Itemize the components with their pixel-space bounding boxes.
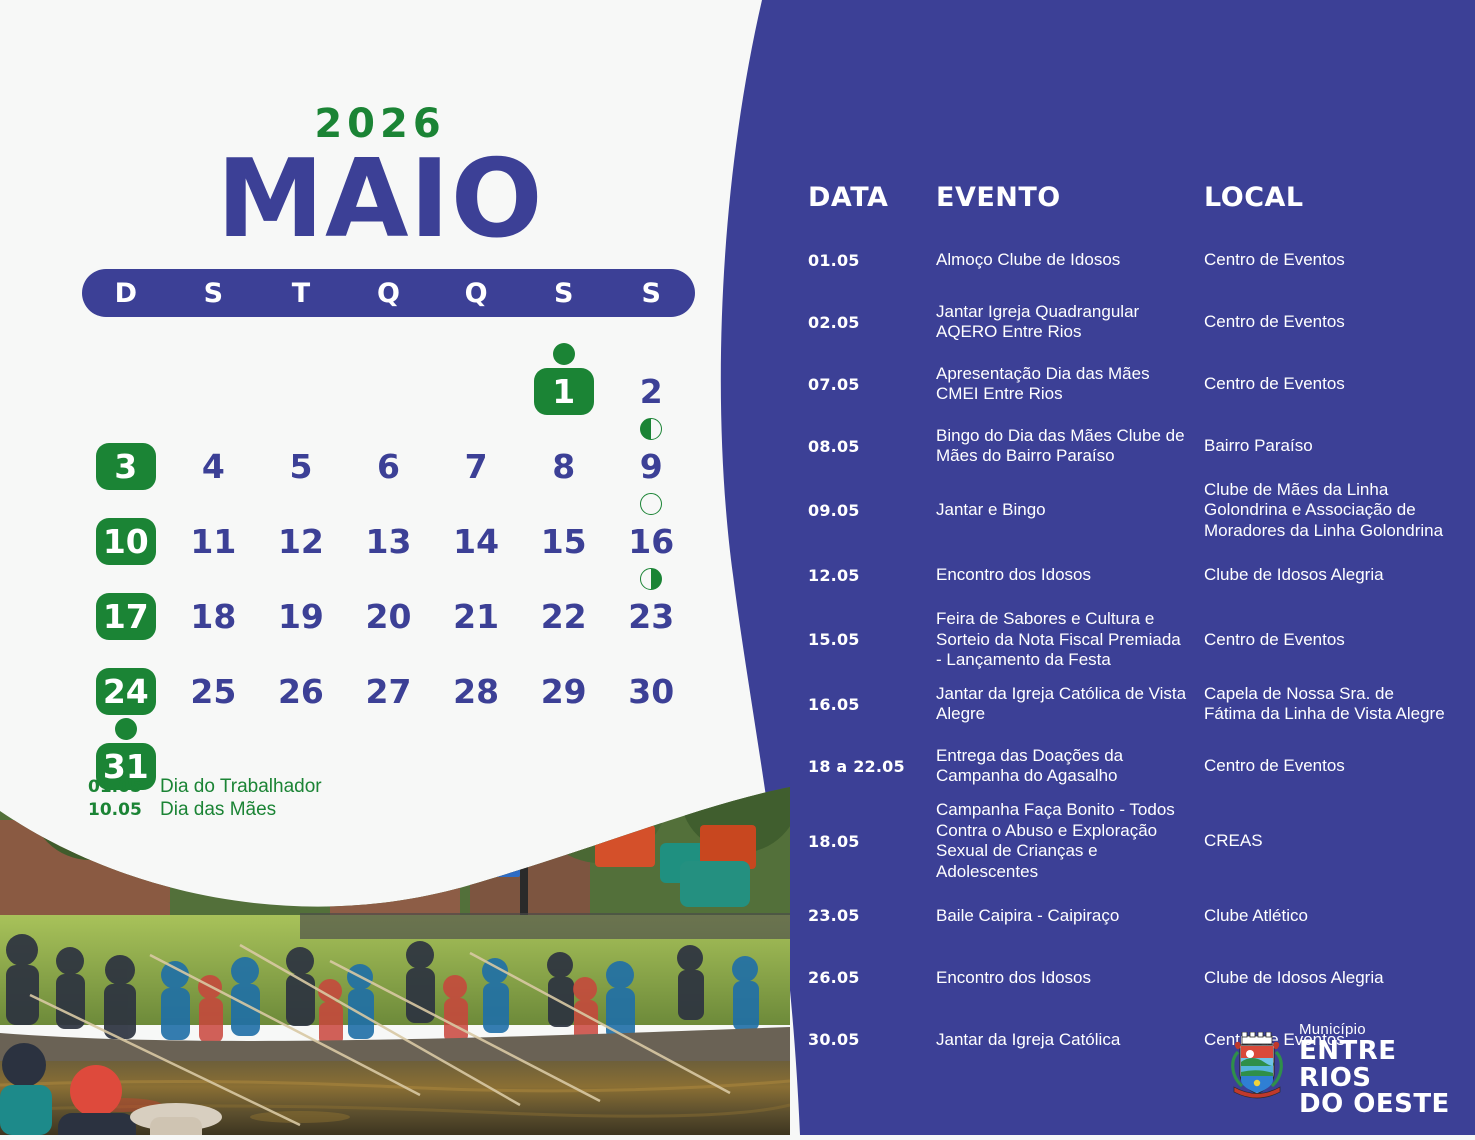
day-number: 27 (359, 668, 419, 715)
event-date: 01.05 (808, 251, 936, 270)
logo-line-1: ENTRE RIOS (1299, 1038, 1475, 1091)
calendar-day-17[interactable]: 17 (82, 565, 170, 640)
moon-phase-full-icon (115, 718, 137, 740)
event-date: 18 a 22.05 (808, 757, 936, 776)
legend-date: 10.05 (88, 800, 160, 820)
calendar-column: 2026 MAIO DSTQQSS 1234567891011121314151… (0, 0, 760, 1135)
calendar-day-empty (432, 715, 520, 790)
calendar-day-14[interactable]: 14 (432, 490, 520, 565)
calendar-day-empty (520, 715, 608, 790)
calendar-day-3[interactable]: 3 (82, 415, 170, 490)
calendar-day-1[interactable]: 1 (520, 340, 608, 415)
table-row[interactable]: 08.05Bingo do Dia das Mães Clube de Mães… (808, 415, 1448, 477)
calendar-day-empty (257, 340, 345, 415)
column-header-date: DATA (808, 182, 936, 213)
event-date: 15.05 (808, 630, 936, 649)
calendar-day-20[interactable]: 20 (345, 565, 433, 640)
event-name: Encontro dos Idosos (936, 968, 1204, 988)
event-date: 12.05 (808, 566, 936, 585)
calendar-day-21[interactable]: 21 (432, 565, 520, 640)
calendar-day-8[interactable]: 8 (520, 415, 608, 490)
calendar-day-11[interactable]: 11 (170, 490, 258, 565)
calendar-week: 3456789 (82, 415, 695, 490)
calendar-day-4[interactable]: 4 (170, 415, 258, 490)
event-name: Encontro dos Idosos (936, 565, 1204, 585)
calendar-day-9[interactable]: 9 (607, 415, 695, 490)
day-number: 28 (446, 668, 506, 715)
day-number: 14 (446, 518, 506, 565)
day-number: 16 (621, 518, 681, 565)
event-date: 02.05 (808, 313, 936, 332)
day-number: 11 (183, 518, 243, 565)
calendar-day-28[interactable]: 28 (432, 640, 520, 715)
calendar-day-13[interactable]: 13 (345, 490, 433, 565)
day-number: 23 (621, 593, 681, 640)
calendar-day-25[interactable]: 25 (170, 640, 258, 715)
events-table-body: 01.05Almoço Clube de IdososCentro de Eve… (808, 229, 1448, 1071)
event-name: Baile Caipira - Caipiraço (936, 906, 1204, 926)
column-header-event: EVENTO (936, 182, 1204, 213)
event-name: Jantar da Igreja Católica (936, 1030, 1204, 1050)
logo-text-block: Município ENTRE RIOS DO OESTE (1299, 1022, 1475, 1118)
day-number: 6 (359, 443, 419, 490)
moon-phase-new-icon (640, 493, 662, 515)
event-name: Jantar Igreja Quadrangular AQERO Entre R… (936, 302, 1204, 343)
day-number: 15 (534, 518, 594, 565)
day-number: 30 (621, 668, 681, 715)
table-row[interactable]: 23.05Baile Caipira - CaipiraçoClube Atlé… (808, 885, 1448, 947)
calendar-day-2[interactable]: 2 (607, 340, 695, 415)
day-number: 26 (271, 668, 331, 715)
coat-of-arms-icon (1226, 1032, 1288, 1107)
column-header-local: LOCAL (1204, 182, 1448, 213)
calendar-month: MAIO (0, 146, 760, 254)
event-location: Centro de Eventos (1204, 250, 1448, 270)
day-number: 4 (183, 443, 243, 490)
calendar-week: 17181920212223 (82, 565, 695, 640)
weekday-label-4: Q (432, 278, 520, 309)
day-number: 7 (446, 443, 506, 490)
table-row[interactable]: 02.05Jantar Igreja Quadrangular AQERO En… (808, 291, 1448, 353)
weekday-label-3: Q (345, 278, 433, 309)
table-row[interactable]: 15.05Feira de Sabores e Cultura e Sortei… (808, 606, 1448, 673)
calendar-day-6[interactable]: 6 (345, 415, 433, 490)
legend-date: 01.05 (88, 777, 160, 797)
event-location: Clube de Idosos Alegria (1204, 968, 1448, 988)
event-name: Bingo do Dia das Mães Clube de Mães do B… (936, 426, 1204, 467)
day-number: 1 (534, 368, 594, 415)
event-date: 23.05 (808, 906, 936, 925)
calendar-day-29[interactable]: 29 (520, 640, 608, 715)
event-location: Clube de Idosos Alegria (1204, 565, 1448, 585)
table-row[interactable]: 07.05Apresentação Dia das Mães CMEI Entr… (808, 353, 1448, 415)
event-name: Campanha Faça Bonito - Todos Contra o Ab… (936, 800, 1204, 882)
day-number: 24 (96, 668, 156, 715)
day-number: 29 (534, 668, 594, 715)
calendar-day-27[interactable]: 27 (345, 640, 433, 715)
calendar-day-18[interactable]: 18 (170, 565, 258, 640)
event-date: 07.05 (808, 375, 936, 394)
weekday-label-0: D (82, 278, 170, 309)
day-number: 10 (96, 518, 156, 565)
event-location: Centro de Eventos (1204, 374, 1448, 394)
calendar-day-16[interactable]: 16 (607, 490, 695, 565)
day-number: 21 (446, 593, 506, 640)
event-date: 26.05 (808, 968, 936, 987)
moon-phase-full-icon (553, 343, 575, 365)
event-date: 16.05 (808, 695, 936, 714)
event-date: 08.05 (808, 437, 936, 456)
calendar-day-22[interactable]: 22 (520, 565, 608, 640)
table-row[interactable]: 12.05Encontro dos IdososClube de Idosos … (808, 544, 1448, 606)
event-date: 30.05 (808, 1030, 936, 1049)
holiday-legend: 01.05Dia do Trabalhador10.05Dia das Mães (88, 776, 322, 822)
moon-phase-first-quarter-icon (640, 568, 662, 590)
municipal-logo: Município ENTRE RIOS DO OESTE (1226, 1022, 1475, 1118)
legend-item: 01.05Dia do Trabalhador (88, 776, 322, 799)
event-name: Almoço Clube de Idosos (936, 250, 1204, 270)
day-number: 22 (534, 593, 594, 640)
calendar-day-empty (345, 715, 433, 790)
table-row[interactable]: 16.05Jantar da Igreja Católica de Vista … (808, 673, 1448, 735)
day-number: 13 (359, 518, 419, 565)
calendar-day-empty (607, 715, 695, 790)
event-name: Jantar e Bingo (936, 500, 1204, 520)
calendar-day-19[interactable]: 19 (257, 565, 345, 640)
event-location: Capela de Nossa Sra. de Fátima da Linha … (1204, 684, 1448, 725)
calendar-grid: 1234567891011121314151617181920212223242… (82, 340, 695, 790)
events-table: DATA EVENTO LOCAL 01.05Almoço Clube de I… (808, 182, 1448, 1071)
calendar-week: 12 (82, 340, 695, 415)
legend-item: 10.05Dia das Mães (88, 799, 322, 822)
day-number: 9 (621, 443, 681, 490)
event-name: Feira de Sabores e Cultura e Sorteio da … (936, 609, 1204, 670)
table-row[interactable]: 18.05Campanha Faça Bonito - Todos Contra… (808, 797, 1448, 885)
calendar-week: 10111213141516 (82, 490, 695, 565)
event-name: Apresentação Dia das Mães CMEI Entre Rio… (936, 364, 1204, 405)
table-row[interactable]: 09.05Jantar e BingoClube de Mães da Linh… (808, 477, 1448, 544)
calendar-day-empty (345, 340, 433, 415)
calendar-day-empty (432, 340, 520, 415)
event-name: Entrega das Doações da Campanha do Agasa… (936, 746, 1204, 787)
legend-label: Dia das Mães (160, 799, 276, 821)
event-location: Clube de Mães da Linha Golondrina e Asso… (1204, 480, 1448, 541)
event-location: Centro de Eventos (1204, 312, 1448, 332)
calendar-day-30[interactable]: 30 (607, 640, 695, 715)
calendar-day-empty (82, 340, 170, 415)
day-number: 19 (271, 593, 331, 640)
event-name: Jantar da Igreja Católica de Vista Alegr… (936, 684, 1204, 725)
moon-phase-last-quarter-icon (640, 418, 662, 440)
day-number: 17 (96, 593, 156, 640)
calendar-week: 24252627282930 (82, 640, 695, 715)
weekday-label-5: S (520, 278, 608, 309)
calendar-day-empty (170, 340, 258, 415)
event-location: Clube Atlético (1204, 906, 1448, 926)
calendar-day-24[interactable]: 24 (82, 640, 170, 715)
day-number: 25 (183, 668, 243, 715)
calendar-day-26[interactable]: 26 (257, 640, 345, 715)
table-row[interactable]: 26.05Encontro dos IdososClube de Idosos … (808, 947, 1448, 1009)
weekday-label-2: T (257, 278, 345, 309)
events-table-header: DATA EVENTO LOCAL (808, 182, 1448, 213)
event-location: Bairro Paraíso (1204, 436, 1448, 456)
event-location: Centro de Eventos (1204, 756, 1448, 776)
legend-label: Dia do Trabalhador (160, 776, 322, 798)
calendar-day-23[interactable]: 23 (607, 565, 695, 640)
calendar-day-12[interactable]: 12 (257, 490, 345, 565)
calendar-title: 2026 MAIO (0, 0, 760, 254)
weekday-label-6: S (607, 278, 695, 309)
day-number: 5 (271, 443, 331, 490)
calendar-day-5[interactable]: 5 (257, 415, 345, 490)
day-number: 3 (96, 443, 156, 490)
weekday-header-bar: DSTQQSS (82, 269, 695, 317)
day-number: 12 (271, 518, 331, 565)
table-row[interactable]: 01.05Almoço Clube de IdososCentro de Eve… (808, 229, 1448, 291)
day-number: 18 (183, 593, 243, 640)
logo-line-2: DO OESTE (1299, 1091, 1475, 1118)
event-date: 18.05 (808, 832, 936, 851)
calendar-day-15[interactable]: 15 (520, 490, 608, 565)
day-number: 2 (621, 368, 681, 415)
calendar-day-7[interactable]: 7 (432, 415, 520, 490)
event-date: 09.05 (808, 501, 936, 520)
event-location: Centro de Eventos (1204, 630, 1448, 650)
calendar-day-10[interactable]: 10 (82, 490, 170, 565)
event-location: CREAS (1204, 831, 1448, 851)
day-number: 20 (359, 593, 419, 640)
table-row[interactable]: 18 a 22.05Entrega das Doações da Campanh… (808, 735, 1448, 797)
weekday-label-1: S (170, 278, 258, 309)
day-number: 8 (534, 443, 594, 490)
